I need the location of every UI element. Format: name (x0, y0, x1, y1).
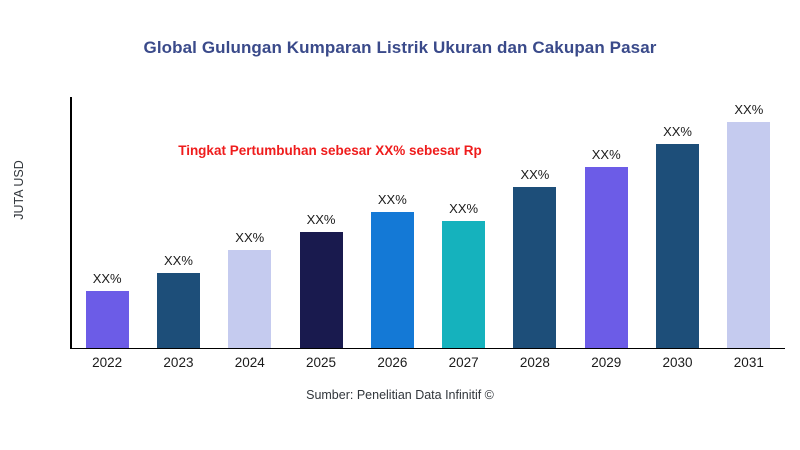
x-axis-line (70, 348, 785, 350)
bar-group: XX% (428, 98, 499, 348)
bar (727, 122, 770, 348)
bar (86, 291, 129, 348)
bar-value-label: XX% (164, 253, 193, 268)
bar-value-label: XX% (663, 124, 692, 139)
bar (371, 212, 414, 348)
bar (300, 232, 343, 347)
bar-value-label: XX% (449, 201, 478, 216)
bar-value-label: XX% (520, 167, 549, 182)
bar-value-label: XX% (307, 212, 336, 227)
bar-group: XX% (499, 98, 570, 348)
bar-group: XX% (713, 98, 784, 348)
bar-group: XX% (642, 98, 713, 348)
x-tick-label: 2022 (72, 355, 143, 370)
bar-group: XX% (285, 98, 356, 348)
bar-group: XX% (214, 98, 285, 348)
bar (656, 144, 699, 347)
bar-value-label: XX% (235, 230, 264, 245)
x-tick-label: 2025 (285, 355, 356, 370)
bar-value-label: XX% (734, 102, 763, 117)
chart-container: Global Gulungan Kumparan Listrik Ukuran … (0, 0, 800, 450)
growth-rate-annotation: Tingkat Pertumbuhan sebesar XX% sebesar … (105, 143, 555, 158)
bar-value-label: XX% (378, 192, 407, 207)
bar (585, 167, 628, 348)
x-tick-label: 2030 (642, 355, 713, 370)
x-axis-tick-labels: 2022202320242025202620272028202920302031 (72, 355, 785, 370)
x-tick-label: 2026 (357, 355, 428, 370)
x-tick-label: 2031 (713, 355, 784, 370)
bar-series: XX%XX%XX%XX%XX%XX%XX%XX%XX%XX% (72, 98, 785, 348)
x-tick-label: 2028 (499, 355, 570, 370)
bar-value-label: XX% (592, 147, 621, 162)
bar-group: XX% (571, 98, 642, 348)
bar-value-label: XX% (93, 271, 122, 286)
bar (513, 187, 556, 347)
x-tick-label: 2024 (214, 355, 285, 370)
bar-group: XX% (143, 98, 214, 348)
x-tick-label: 2029 (571, 355, 642, 370)
x-tick-label: 2027 (428, 355, 499, 370)
bar-group: XX% (357, 98, 428, 348)
bar (157, 273, 200, 348)
plot-area: XX%XX%XX%XX%XX%XX%XX%XX%XX%XX% (70, 97, 785, 349)
bar-group: XX% (72, 98, 143, 348)
chart-title: Global Gulungan Kumparan Listrik Ukuran … (0, 38, 800, 58)
bar (442, 221, 485, 348)
bar (228, 250, 271, 347)
y-axis-label: JUTA USD (12, 130, 26, 250)
source-note: Sumber: Penelitian Data Infinitif © (0, 388, 800, 402)
x-tick-label: 2023 (143, 355, 214, 370)
